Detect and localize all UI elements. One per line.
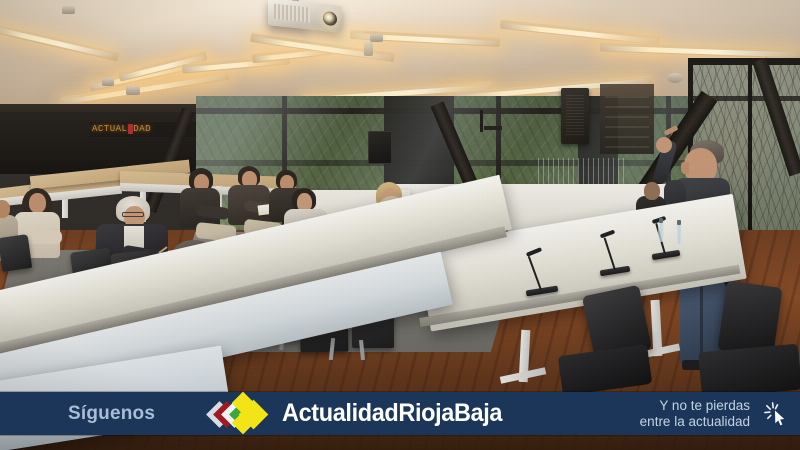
window-frame-top bbox=[690, 58, 800, 65]
water-bottle bbox=[676, 224, 682, 244]
raised-hand bbox=[656, 137, 672, 153]
ceiling-spotlight bbox=[126, 86, 140, 95]
brand-name[interactable]: ActualidadRiojaBaja bbox=[282, 399, 502, 428]
ceiling-dome-light bbox=[667, 73, 683, 83]
head bbox=[644, 182, 660, 200]
screenshot-root: ACTUALIDAD bbox=[0, 0, 800, 450]
conference-room-photo: ACTUALIDAD bbox=[0, 0, 800, 450]
brand-banner[interactable]: Síguenos ActualidadRiojaBaja Y no te pie… bbox=[0, 392, 800, 435]
tagline-line-1: Y no te pierdas bbox=[640, 398, 750, 414]
head bbox=[29, 193, 46, 213]
follow-us-label: Síguenos bbox=[68, 403, 155, 425]
tagline-line-2: entre la actualidad bbox=[640, 414, 750, 430]
actualidad-rioja-baja-logo[interactable] bbox=[210, 396, 272, 432]
jeans-seam bbox=[700, 284, 703, 362]
wall-rack bbox=[600, 84, 654, 154]
wall-speaker bbox=[561, 88, 589, 144]
banner-tagline: Y no te pierdas entre la actualidad bbox=[640, 398, 750, 429]
ceiling-spotlight bbox=[62, 6, 75, 14]
ceiling-spotlight bbox=[370, 34, 383, 42]
wall-monitor bbox=[368, 131, 392, 164]
chair-seat bbox=[698, 344, 800, 399]
eyeglasses bbox=[122, 212, 144, 217]
fire-alarm-indicator bbox=[128, 124, 133, 134]
hanging-rod bbox=[480, 110, 483, 132]
click-cursor-icon[interactable] bbox=[763, 400, 790, 427]
face-profile bbox=[681, 162, 689, 174]
water-bottle bbox=[658, 222, 664, 242]
chair bbox=[0, 234, 32, 272]
projector-vent bbox=[274, 4, 310, 23]
projector-lens bbox=[323, 11, 337, 26]
hanging-fixture bbox=[484, 126, 502, 130]
ceiling-spotlight bbox=[102, 78, 114, 86]
